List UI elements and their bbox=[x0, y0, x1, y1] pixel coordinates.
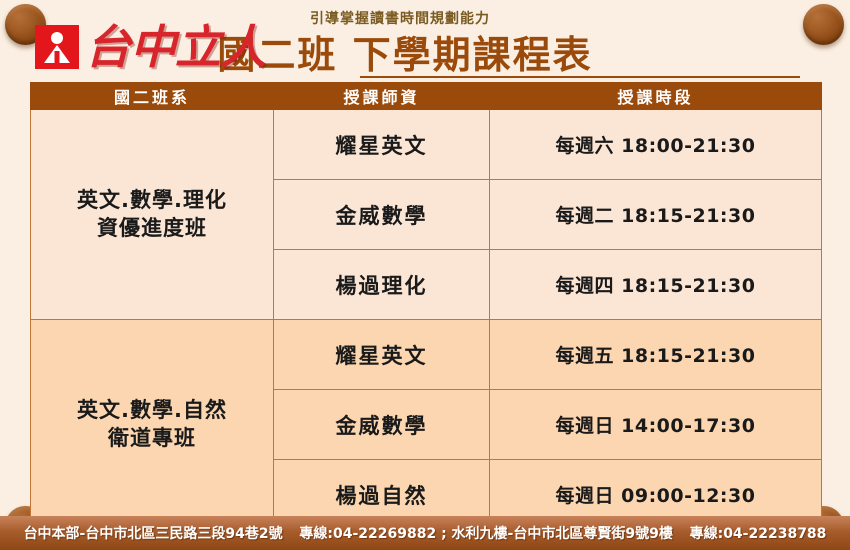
footer-divider: ; bbox=[441, 526, 447, 542]
group-name-cell-a: 英文.數學.理化 資優進度班 bbox=[31, 110, 274, 320]
teacher-cell: 耀星英文 bbox=[274, 110, 490, 180]
column-header-teacher: 授課師資 bbox=[274, 83, 490, 110]
branch1-address: 台中本部-台中市北區三民路三段94巷2號 bbox=[24, 526, 283, 542]
teacher-cell: 金威數學 bbox=[274, 180, 490, 250]
column-header-class: 國二班系 bbox=[31, 83, 274, 110]
schedule-poster: 引導掌握讀書時間規劃能力 國二班 下學期課程表 台中立人 國二班系 授課師資 授… bbox=[0, 0, 850, 550]
group-name-line2: 衛道專班 bbox=[31, 425, 273, 452]
teacher-cell: 楊過理化 bbox=[274, 250, 490, 320]
group-name-line1: 英文.數學.理化 bbox=[77, 188, 227, 212]
table-row: 英文.數學.自然 衛道專班 耀星英文 每週五 18:15-21:30 bbox=[31, 320, 822, 390]
branch1-phone: 專線:04-22269882 bbox=[299, 526, 436, 542]
timeslot-cell: 每週二 18:15-21:30 bbox=[490, 180, 822, 250]
footer-text: 台中本部-台中市北區三民路三段94巷2號 專線:04-22269882 ; 水利… bbox=[24, 523, 827, 543]
title-underline bbox=[360, 76, 800, 78]
teacher-cell: 金威數學 bbox=[274, 390, 490, 460]
teacher-cell: 耀星英文 bbox=[274, 320, 490, 390]
footer-contact-bar: 台中本部-台中市北區三民路三段94巷2號 專線:04-22269882 ; 水利… bbox=[0, 516, 850, 550]
brand-logo: 台中立人 bbox=[35, 18, 265, 76]
group-name-line1: 英文.數學.自然 bbox=[77, 398, 227, 422]
person-in-red-square-logo-icon bbox=[35, 25, 79, 69]
logo-leg-shape bbox=[55, 51, 60, 63]
logo-head-shape bbox=[51, 32, 63, 44]
course-schedule-table: 國二班系 授課師資 授課時段 英文.數學.理化 資優進度班 耀星英文 每週六 1… bbox=[30, 82, 822, 530]
branch2-address: 水利九樓-台中市北區尊賢街9號9樓 bbox=[452, 526, 673, 542]
table-row: 英文.數學.理化 資優進度班 耀星英文 每週六 18:00-21:30 bbox=[31, 110, 822, 180]
brand-name: 台中立人 bbox=[85, 24, 265, 70]
table-header-row: 國二班系 授課師資 授課時段 bbox=[31, 83, 822, 110]
group-name-line2: 資優進度班 bbox=[31, 215, 273, 242]
timeslot-cell: 每週四 18:15-21:30 bbox=[490, 250, 822, 320]
timeslot-cell: 每週日 14:00-17:30 bbox=[490, 390, 822, 460]
column-header-timeslot: 授課時段 bbox=[490, 83, 822, 110]
timeslot-cell: 每週六 18:00-21:30 bbox=[490, 110, 822, 180]
timeslot-cell: 每週五 18:15-21:30 bbox=[490, 320, 822, 390]
branch2-phone: 專線:04-22238788 bbox=[690, 526, 827, 542]
group-name-cell-b: 英文.數學.自然 衛道專班 bbox=[31, 320, 274, 530]
